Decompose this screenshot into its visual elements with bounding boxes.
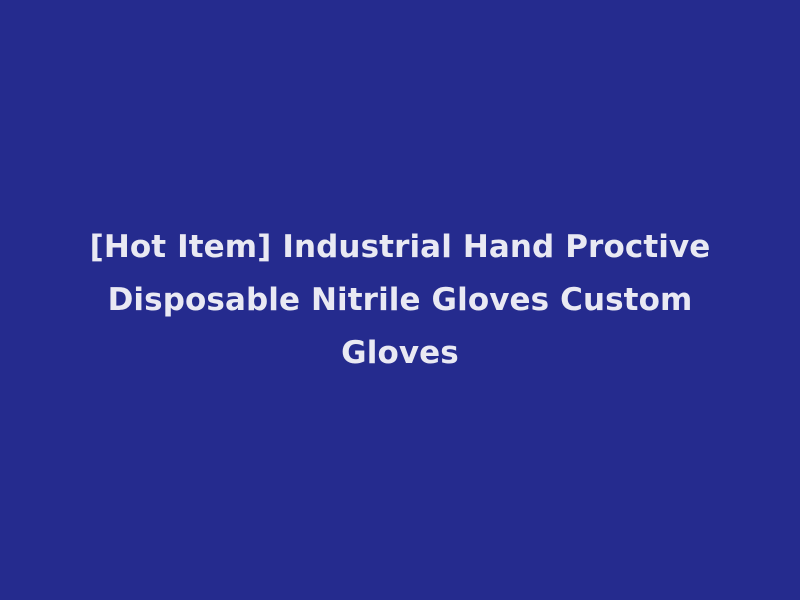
- product-title-placeholder-card: [Hot Item] Industrial Hand Proctive Disp…: [0, 0, 800, 600]
- page-title: [Hot Item] Industrial Hand Proctive Disp…: [80, 221, 720, 380]
- title-block: [Hot Item] Industrial Hand Proctive Disp…: [70, 221, 730, 380]
